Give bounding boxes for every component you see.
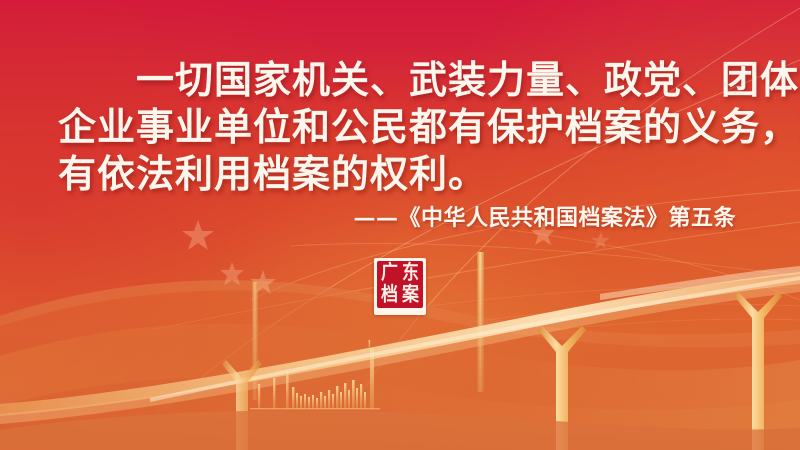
quote-block: 一切国家机关、武装力量、政党、团体、 企业事业单位和公民都有保护档案的义务，享 … — [0, 56, 800, 233]
seal-char-3: 广 — [379, 262, 400, 286]
archive-law-poster: 一切国家机关、武装力量、政党、团体、 企业事业单位和公民都有保护档案的义务，享 … — [0, 0, 800, 450]
seal-character-grid: 东 案 广 档 — [379, 263, 421, 306]
seal-char-1: 东 — [400, 262, 421, 286]
seal-char-2: 案 — [400, 283, 421, 307]
quote-line-1: 一切国家机关、武装力量、政党、团体、 — [58, 56, 742, 103]
quote-attribution: ——《中华人民共和国档案法》第五条 — [58, 203, 742, 233]
quote-line-2: 企业事业单位和公民都有保护档案的义务，享 — [58, 103, 742, 150]
quote-line-3: 有依法利用档案的权利。 — [58, 150, 742, 197]
seal-stamp: 东 案 广 档 — [374, 258, 426, 315]
seal-char-4: 档 — [379, 283, 400, 307]
